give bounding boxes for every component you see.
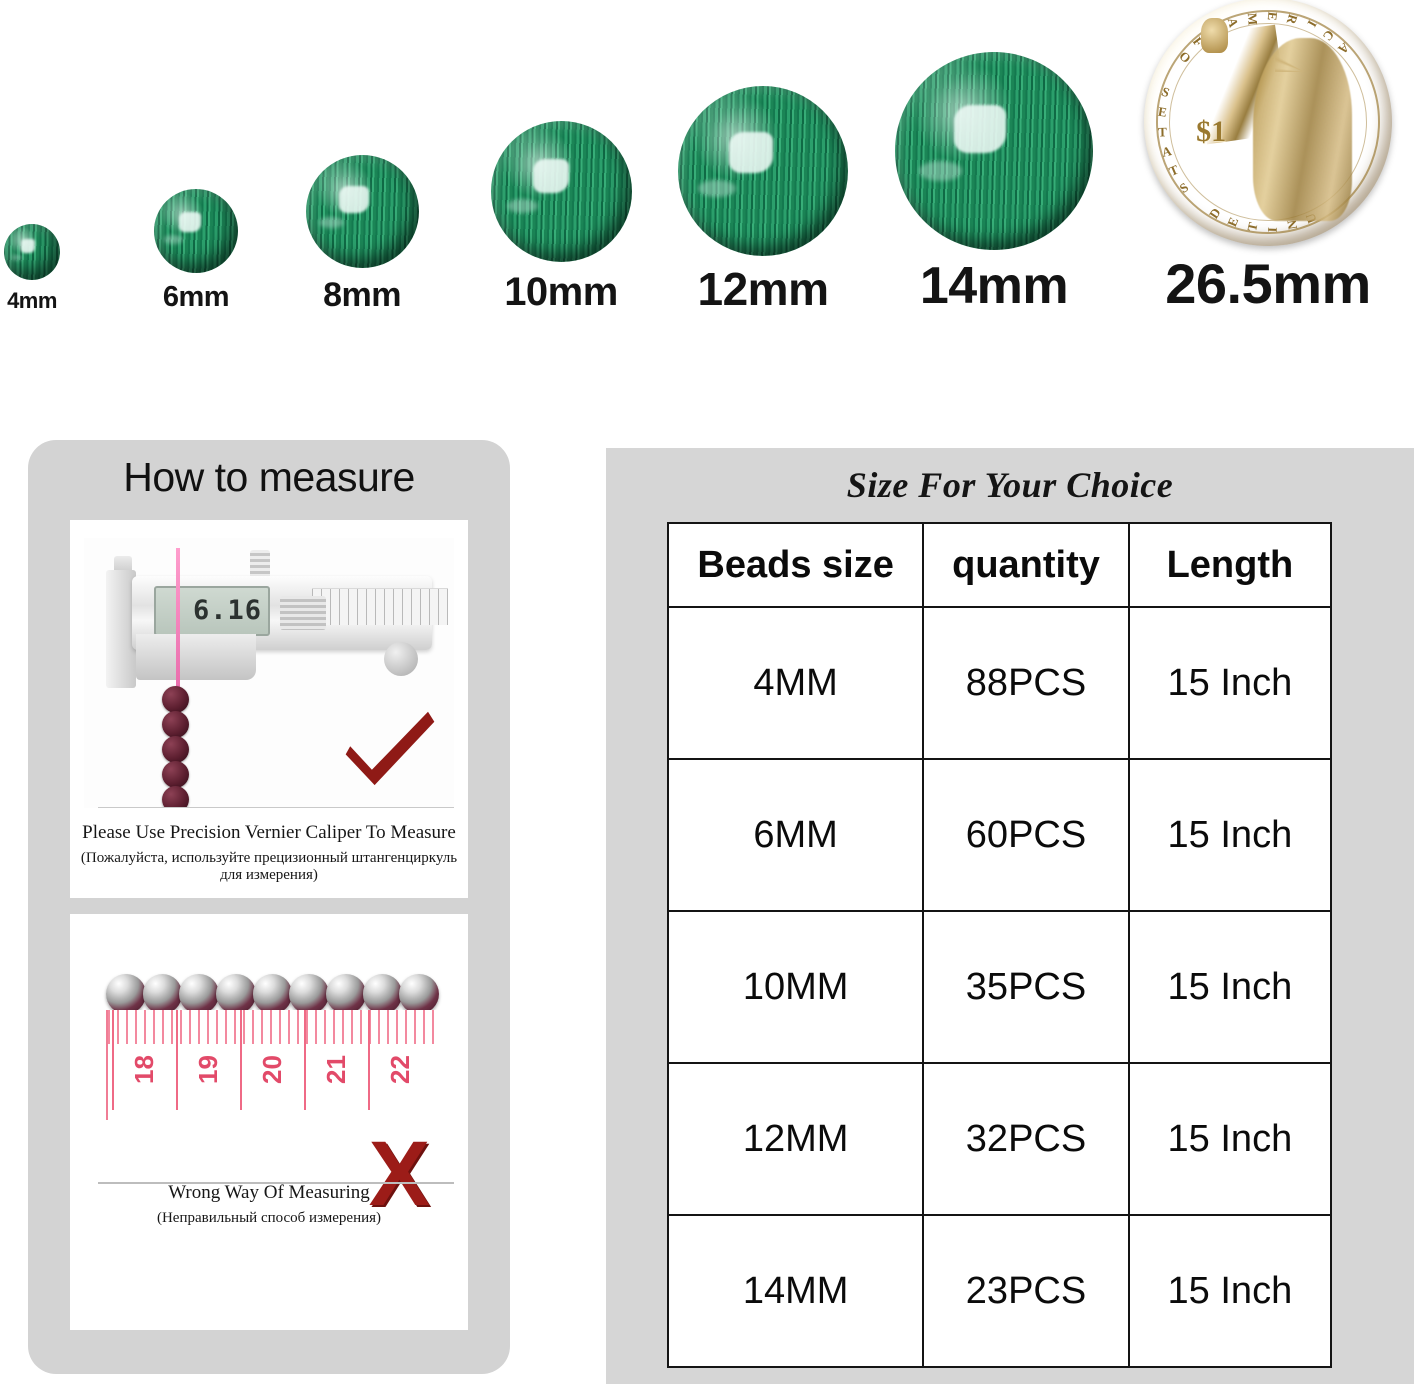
table-row: 12MM32PCS15 Inch bbox=[668, 1063, 1331, 1215]
quantity-cell: 35PCS bbox=[923, 911, 1129, 1063]
coin-sample: UNITEDSTATESOFAMERICA$126.5mm bbox=[1144, 0, 1392, 312]
hematite-bead bbox=[289, 974, 329, 1014]
size-for-your-choice-panel: Size For Your Choice Beads sizequantityL… bbox=[606, 448, 1414, 1384]
hematite-bead bbox=[143, 974, 183, 1014]
column-header-3: Length bbox=[1129, 523, 1331, 607]
malachite-bead bbox=[4, 224, 60, 280]
bead-strand-vertical bbox=[162, 686, 190, 808]
malachite-bead bbox=[678, 86, 848, 256]
liberty-crown bbox=[1275, 33, 1335, 73]
garnet-bead bbox=[162, 761, 189, 788]
garnet-bead bbox=[162, 736, 189, 763]
length-cell: 15 Inch bbox=[1129, 1215, 1331, 1367]
bead-size-cell: 4MM bbox=[668, 607, 923, 759]
ruler-number: 21 bbox=[321, 1055, 352, 1084]
malachite-bead bbox=[895, 52, 1093, 250]
ruler-major-tick bbox=[176, 1010, 178, 1110]
hematite-bead bbox=[399, 974, 439, 1014]
hematite-bead bbox=[363, 974, 403, 1014]
length-cell: 15 Inch bbox=[1129, 911, 1331, 1063]
table-row: 4MM88PCS15 Inch bbox=[668, 607, 1331, 759]
bead-size-cell: 12MM bbox=[668, 1063, 923, 1215]
coin-denomination: $1 bbox=[1196, 115, 1226, 149]
tape-measure-ruler: 1819202122 bbox=[106, 1010, 438, 1120]
caliper-reading: 6.16 bbox=[193, 595, 262, 626]
table-row: 14MM23PCS15 Inch bbox=[668, 1215, 1331, 1367]
hematite-bead bbox=[253, 974, 293, 1014]
wrong-caption-ru: (Неправильный способ измерения) bbox=[70, 1210, 468, 1227]
length-cell: 15 Inch bbox=[1129, 759, 1331, 911]
bead-size-label: 26.5mm bbox=[1165, 256, 1371, 312]
table-row: 10MM35PCS15 Inch bbox=[668, 911, 1331, 1063]
caliper-lcd-screen: 6.16 bbox=[154, 586, 270, 636]
hematite-bead bbox=[179, 974, 219, 1014]
how-to-measure-panel: How to measure 6.16 Please Use Precision bbox=[28, 440, 510, 1374]
vernier-caliper-photo: 6.16 bbox=[84, 538, 454, 808]
garnet-bead bbox=[162, 786, 189, 808]
hematite-bead bbox=[326, 974, 366, 1014]
liberty-torch bbox=[1201, 18, 1228, 53]
how-to-measure-title: How to measure bbox=[28, 454, 510, 501]
caliper-photo-baseline bbox=[98, 807, 454, 808]
caliper-thumb-roller bbox=[280, 596, 326, 630]
ruler-major-tick bbox=[304, 1010, 306, 1110]
tape-measure-photo: 1819202122 X bbox=[84, 932, 454, 1222]
malachite-bead bbox=[154, 189, 238, 273]
garnet-bead bbox=[162, 711, 189, 738]
table-header-row: Beads sizequantityLength bbox=[668, 523, 1331, 607]
ruler-major-tick bbox=[112, 1010, 114, 1110]
ruler-major-tick bbox=[368, 1010, 370, 1110]
garnet-bead bbox=[162, 686, 189, 713]
correct-caption-ru: (Пожалуйста, используйте прецизионный шт… bbox=[70, 850, 468, 884]
size-table-title: Size For Your Choice bbox=[606, 464, 1414, 506]
column-header-2: quantity bbox=[923, 523, 1129, 607]
bead-size-comparison-row: 4mm6mm8mm10mm12mm14mmUNITEDSTATESOFAMERI… bbox=[0, 0, 1414, 345]
bead-size-label: 4mm bbox=[7, 290, 57, 312]
quantity-cell: 23PCS bbox=[923, 1215, 1129, 1367]
bead-size-label: 14mm bbox=[920, 260, 1068, 312]
size-table: Beads sizequantityLength 4MM88PCS15 Inch… bbox=[667, 522, 1332, 1368]
length-cell: 15 Inch bbox=[1129, 1063, 1331, 1215]
column-header-1: Beads size bbox=[668, 523, 923, 607]
bead-size-label: 12mm bbox=[698, 266, 829, 312]
check-mark-icon bbox=[344, 710, 436, 786]
malachite-bead bbox=[306, 155, 419, 268]
bead-sample: 4mm bbox=[4, 224, 60, 312]
bead-sample: 10mm bbox=[491, 121, 632, 312]
ruler-number: 18 bbox=[129, 1055, 160, 1084]
correct-measure-card: 6.16 Please Use Precision Vernier Calipe… bbox=[70, 520, 468, 898]
bead-size-cell: 10MM bbox=[668, 911, 923, 1063]
malachite-bead bbox=[491, 121, 632, 262]
bead-sample: 6mm bbox=[154, 189, 238, 312]
quantity-cell: 60PCS bbox=[923, 759, 1129, 911]
hematite-bead bbox=[106, 974, 146, 1014]
bead-size-cell: 6MM bbox=[668, 759, 923, 911]
bead-size-label: 8mm bbox=[323, 278, 401, 312]
ruler-number: 19 bbox=[193, 1055, 224, 1084]
caliper-knob bbox=[384, 642, 418, 676]
length-cell: 15 Inch bbox=[1129, 607, 1331, 759]
table-body: 4MM88PCS15 Inch6MM60PCS15 Inch10MM35PCS1… bbox=[668, 607, 1331, 1367]
wrong-caption-en: Wrong Way Of Measuring bbox=[70, 1182, 468, 1204]
wrong-measure-card: 1819202122 X Wrong Way Of Measuring (Неп… bbox=[70, 914, 468, 1330]
bead-size-cell: 14MM bbox=[668, 1215, 923, 1367]
caliper-sliding-jaw bbox=[136, 634, 256, 680]
ruler-number: 20 bbox=[257, 1055, 288, 1084]
quantity-cell: 32PCS bbox=[923, 1063, 1129, 1215]
us-dollar-coin: UNITEDSTATESOFAMERICA$1 bbox=[1144, 0, 1392, 246]
bead-sample: 14mm bbox=[895, 52, 1093, 312]
ruler-ticks bbox=[108, 1010, 438, 1044]
bead-size-label: 10mm bbox=[504, 272, 618, 312]
ruler-major-tick bbox=[240, 1010, 242, 1110]
quantity-cell: 88PCS bbox=[923, 607, 1129, 759]
bead-sample: 8mm bbox=[306, 155, 419, 312]
caliper-scale bbox=[312, 588, 448, 625]
correct-caption-en: Please Use Precision Vernier Caliper To … bbox=[70, 822, 468, 844]
bead-sample: 12mm bbox=[678, 86, 848, 312]
hematite-bead bbox=[216, 974, 256, 1014]
bead-size-label: 6mm bbox=[163, 283, 229, 312]
table-row: 6MM60PCS15 Inch bbox=[668, 759, 1331, 911]
ruler-number: 22 bbox=[385, 1055, 416, 1084]
